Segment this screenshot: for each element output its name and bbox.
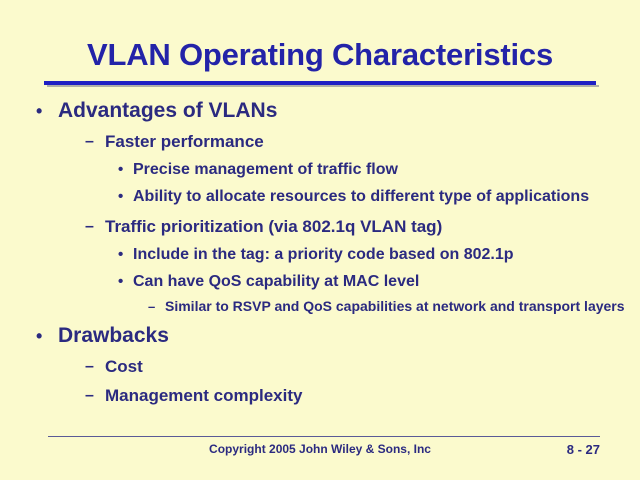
bullet-marker-dot-icon: • <box>36 321 58 351</box>
bullet-marker-dot-icon: • <box>118 158 133 182</box>
bullet-item-level3: • Include in the tag: a priority code ba… <box>0 243 640 267</box>
bullet-marker-dot-icon: • <box>118 185 133 209</box>
bullet-item-level2: – Cost <box>0 354 640 380</box>
bullet-text: Ability to allocate resources to differe… <box>133 185 640 209</box>
page-title: VLAN Operating Characteristics <box>0 36 640 74</box>
bullet-item-level4: – Similar to RSVP and QoS capabilities a… <box>0 297 640 316</box>
bullet-marker-dash-icon: – <box>85 354 105 380</box>
bullet-item-level2: – Management complexity <box>0 383 640 409</box>
bullet-text: Can have QoS capability at MAC level <box>133 270 640 294</box>
bullet-item-level3: • Can have QoS capability at MAC level <box>0 270 640 294</box>
bullet-text: Precise management of traffic flow <box>133 158 640 182</box>
footer-divider <box>48 436 600 437</box>
bullet-item-level2: – Traffic prioritization (via 802.1q VLA… <box>0 214 640 240</box>
bullet-text: Cost <box>105 354 640 380</box>
bullet-list: • Advantages of VLANs – Faster performan… <box>0 96 640 409</box>
bullet-marker-dash-icon: – <box>85 383 105 409</box>
footer-page-number: 8 - 27 <box>567 442 600 457</box>
slide: VLAN Operating Characteristics • Advanta… <box>0 0 640 480</box>
footer-copyright: Copyright 2005 John Wiley & Sons, Inc <box>0 442 640 456</box>
title-block: VLAN Operating Characteristics <box>0 36 640 74</box>
bullet-text: Drawbacks <box>58 321 640 351</box>
bullet-item-level2: – Faster performance <box>0 129 640 155</box>
bullet-item-level1: • Advantages of VLANs <box>0 96 640 126</box>
bullet-marker-dot-icon: • <box>118 270 133 294</box>
bullet-text: Faster performance <box>105 129 640 155</box>
bullet-item-level3: • Precise management of traffic flow <box>0 158 640 182</box>
bullet-marker-dash-icon: – <box>85 214 105 240</box>
bullet-marker-dot-icon: • <box>118 243 133 267</box>
bullet-text: Management complexity <box>105 383 640 409</box>
bullet-text: Traffic prioritization (via 802.1q VLAN … <box>105 214 640 240</box>
bullet-marker-dash-icon: – <box>148 297 165 316</box>
bullet-text: Similar to RSVP and QoS capabilities at … <box>165 297 640 316</box>
bullet-text: Advantages of VLANs <box>58 96 640 126</box>
bullet-item-level3: • Ability to allocate resources to diffe… <box>0 185 640 209</box>
title-underline-shadow <box>47 85 599 87</box>
bullet-marker-dash-icon: – <box>85 129 105 155</box>
bullet-item-level1: • Drawbacks <box>0 321 640 351</box>
bullet-marker-dot-icon: • <box>36 96 58 126</box>
bullet-text: Include in the tag: a priority code base… <box>133 243 640 267</box>
